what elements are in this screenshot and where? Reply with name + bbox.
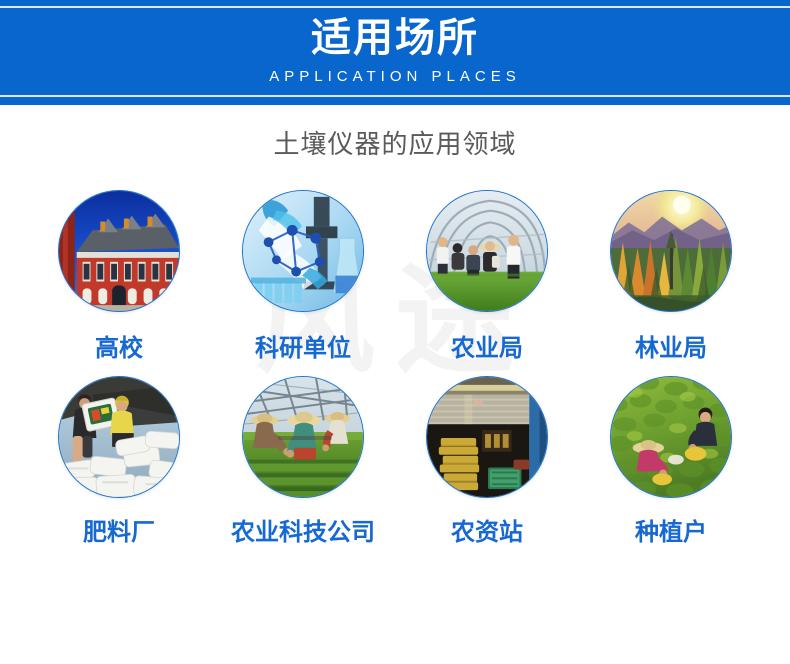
greenhouse-inspection-photo	[426, 190, 548, 312]
place-card-agri-supply-station[interactable]: 农资站	[395, 376, 579, 548]
places-row-2: 肥料厂	[0, 376, 790, 548]
banner-title: 适用场所	[0, 14, 790, 62]
university-building-photo	[58, 190, 180, 312]
page-banner: 适用场所 APPLICATION PLACES	[0, 0, 790, 105]
place-label: 农资站	[451, 518, 523, 548]
section-heading: 土壤仪器的应用领域	[0, 126, 790, 162]
places-row-1: 高校	[0, 190, 790, 364]
seedling-greenhouse-workers-photo	[242, 376, 364, 498]
place-card-agri-tech-company[interactable]: 农业科技公司	[211, 376, 395, 548]
farmers-in-field-photo	[610, 376, 732, 498]
agricultural-supply-store-photo	[426, 376, 548, 498]
place-card-research-institute[interactable]: 科研单位	[211, 190, 395, 364]
place-card-forestry-bureau[interactable]: 林业局	[579, 190, 763, 364]
fertilizer-bags-photo	[58, 376, 180, 498]
place-card-agriculture-bureau[interactable]: 农业局	[395, 190, 579, 364]
banner-bottom-rule	[0, 95, 790, 97]
banner-top-rule	[0, 6, 790, 8]
place-label: 种植户	[635, 518, 707, 548]
place-label: 林业局	[635, 334, 707, 364]
place-label: 高校	[95, 334, 143, 364]
place-label: 科研单位	[255, 334, 351, 364]
place-card-fertilizer-factory[interactable]: 肥料厂	[27, 376, 211, 548]
autumn-forest-photo	[610, 190, 732, 312]
place-label: 农业科技公司	[231, 518, 375, 548]
place-card-growers[interactable]: 种植户	[579, 376, 763, 548]
place-label: 农业局	[451, 334, 523, 364]
place-card-university[interactable]: 高校	[27, 190, 211, 364]
place-label: 肥料厂	[83, 518, 155, 548]
laboratory-research-photo	[242, 190, 364, 312]
places-grid: 高校	[0, 190, 790, 548]
banner-subtitle: APPLICATION PLACES	[0, 67, 790, 87]
